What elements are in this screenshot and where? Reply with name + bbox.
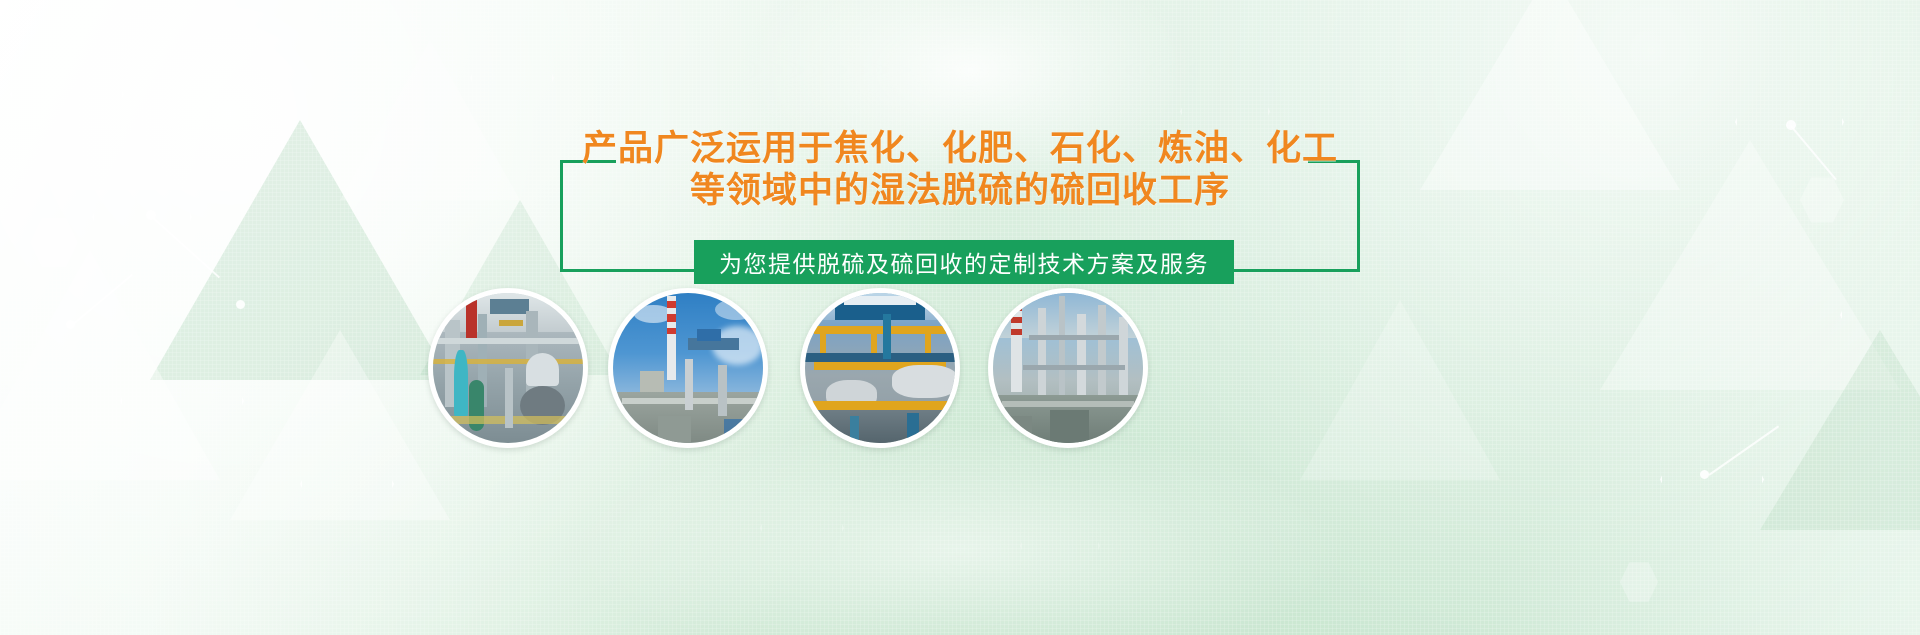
photo-yellow-railings[interactable] [800, 288, 960, 448]
headline-block: 产品广泛运用于焦化、化肥、石化、炼油、化工 等领域中的湿法脱硫的硫回收工序 [560, 128, 1360, 212]
headline-line-2: 等领域中的湿法脱硫的硫回收工序 [560, 170, 1360, 212]
banner-content: 产品广泛运用于焦化、化肥、石化、炼油、化工 等领域中的湿法脱硫的硫回收工序 为您… [0, 0, 1920, 635]
frame-line-bottom-right [1230, 269, 1360, 272]
subtitle-text: 为您提供脱硫及硫回收的定制技术方案及服务 [719, 245, 1209, 279]
banner-root: 产品广泛运用于焦化、化肥、石化、炼油、化工 等领域中的湿法脱硫的硫回收工序 为您… [0, 0, 1920, 635]
subtitle-banner: 为您提供脱硫及硫回收的定制技术方案及服务 [694, 240, 1234, 284]
photo-refinery-towers[interactable] [988, 288, 1148, 448]
photo-pipework-plant[interactable] [428, 288, 588, 448]
photo-row [0, 288, 1920, 448]
frame-line-bottom-left [560, 269, 700, 272]
headline-line-1: 产品广泛运用于焦化、化肥、石化、炼油、化工 [560, 128, 1360, 170]
photo-stack-daylight[interactable] [608, 288, 768, 448]
